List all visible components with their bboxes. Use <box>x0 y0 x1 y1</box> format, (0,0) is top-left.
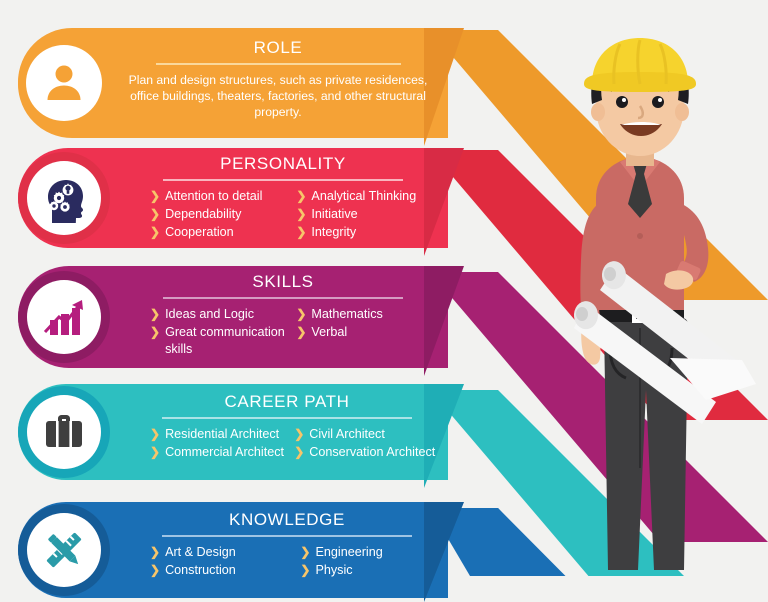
list-item[interactable]: ❯Physic <box>300 562 446 579</box>
career-list-left: ❯Residential Architect ❯Commercial Archi… <box>150 426 294 462</box>
list-item[interactable]: ❯Art & Design <box>150 544 300 561</box>
bar-chart-growth-icon <box>39 293 89 341</box>
list-item[interactable]: ❯Great communication skills <box>150 324 296 358</box>
architect-career-infographic: ROLE Plan and design structures, such as… <box>0 0 768 576</box>
chevron-right-icon: ❯ <box>150 224 160 241</box>
skills-content: SKILLS ❯Ideas and Logic ❯Great communica… <box>128 272 438 359</box>
chevron-right-icon: ❯ <box>150 188 160 205</box>
ruler-pencil-icon <box>40 526 88 574</box>
personality-content: PERSONALITY ❯Attention to detail ❯Depend… <box>128 154 438 242</box>
list-item[interactable]: ❯Cooperation <box>150 224 296 241</box>
chevron-right-icon: ❯ <box>150 426 160 443</box>
person-icon <box>41 60 87 106</box>
role-description: Plan and design structures, such as priv… <box>128 72 428 120</box>
knowledge-title: KNOWLEDGE <box>128 510 446 530</box>
briefcase-icon <box>40 410 88 454</box>
list-item[interactable]: ❯Analytical Thinking <box>296 188 438 205</box>
list-item[interactable]: ❯Construction <box>150 562 300 579</box>
chevron-right-icon: ❯ <box>150 324 160 341</box>
career-title: CAREER PATH <box>128 392 446 412</box>
section-skills[interactable]: SKILLS ❯Ideas and Logic ❯Great communica… <box>18 266 448 368</box>
list-item[interactable]: ❯Mathematics <box>296 306 438 323</box>
section-career-path[interactable]: CAREER PATH ❯Residential Architect ❯Comm… <box>18 384 448 480</box>
list-item[interactable]: ❯Residential Architect <box>150 426 294 443</box>
role-content: ROLE Plan and design structures, such as… <box>128 38 428 120</box>
chevron-right-icon: ❯ <box>150 444 160 461</box>
personality-list-right: ❯Analytical Thinking ❯Initiative ❯Integr… <box>296 188 438 242</box>
knowledge-icon-badge[interactable] <box>18 504 110 596</box>
list-item[interactable]: ❯Verbal <box>296 324 438 341</box>
career-icon-badge[interactable] <box>18 386 110 478</box>
chevron-right-icon: ❯ <box>294 426 304 443</box>
section-personality[interactable]: PERSONALITY ❯Attention to detail ❯Depend… <box>18 148 448 248</box>
architect-character <box>520 28 760 576</box>
chevron-right-icon: ❯ <box>150 544 160 561</box>
list-item[interactable]: ❯Attention to detail <box>150 188 296 205</box>
list-item[interactable]: ❯Integrity <box>296 224 438 241</box>
knowledge-title-rule <box>162 535 412 537</box>
role-icon-badge[interactable] <box>18 37 110 129</box>
list-item[interactable]: ❯Engineering <box>300 544 446 561</box>
personality-list-left: ❯Attention to detail ❯Dependability ❯Coo… <box>150 188 296 242</box>
chevron-right-icon: ❯ <box>296 188 306 205</box>
chevron-right-icon: ❯ <box>296 206 306 223</box>
skills-list-right: ❯Mathematics ❯Verbal <box>296 306 438 359</box>
chevron-right-icon: ❯ <box>296 306 306 323</box>
career-list-right: ❯Civil Architect ❯Conservation Architect <box>294 426 446 462</box>
chevron-right-icon: ❯ <box>150 206 160 223</box>
personality-title-rule <box>163 179 403 181</box>
section-knowledge[interactable]: KNOWLEDGE ❯Art & Design ❯Construction ❯E… <box>18 502 448 598</box>
chevron-right-icon: ❯ <box>296 224 306 241</box>
list-item[interactable]: ❯Ideas and Logic <box>150 306 296 323</box>
chevron-right-icon: ❯ <box>296 324 306 341</box>
career-title-rule <box>162 417 412 419</box>
chevron-right-icon: ❯ <box>300 544 310 561</box>
knowledge-lists: ❯Art & Design ❯Construction ❯Engineering… <box>128 544 446 580</box>
role-title-rule <box>156 63 401 65</box>
knowledge-list-right: ❯Engineering ❯Physic <box>300 544 446 580</box>
personality-icon-badge[interactable] <box>18 152 110 244</box>
chevron-right-icon: ❯ <box>300 562 310 579</box>
role-title: ROLE <box>128 38 428 58</box>
role-fold-shadow <box>424 28 464 146</box>
list-item[interactable]: ❯Initiative <box>296 206 438 223</box>
career-lists: ❯Residential Architect ❯Commercial Archi… <box>128 426 446 462</box>
list-item[interactable]: ❯Civil Architect <box>294 426 446 443</box>
list-item[interactable]: ❯Commercial Architect <box>150 444 294 461</box>
section-role[interactable]: ROLE Plan and design structures, such as… <box>18 28 448 138</box>
list-item[interactable]: ❯Dependability <box>150 206 296 223</box>
list-item[interactable]: ❯Conservation Architect <box>294 444 446 461</box>
skills-lists: ❯Ideas and Logic ❯Great communication sk… <box>128 306 438 359</box>
chevron-right-icon: ❯ <box>150 562 160 579</box>
personality-title: PERSONALITY <box>128 154 438 174</box>
personality-lists: ❯Attention to detail ❯Dependability ❯Coo… <box>128 188 438 242</box>
skills-title: SKILLS <box>128 272 438 292</box>
career-content: CAREER PATH ❯Residential Architect ❯Comm… <box>128 392 446 462</box>
chevron-right-icon: ❯ <box>150 306 160 323</box>
knowledge-list-left: ❯Art & Design ❯Construction <box>150 544 300 580</box>
head-gears-idea-icon <box>38 173 90 223</box>
skills-icon-badge[interactable] <box>18 271 110 363</box>
chevron-right-icon: ❯ <box>294 444 304 461</box>
skills-title-rule <box>163 297 403 299</box>
skills-list-left: ❯Ideas and Logic ❯Great communication sk… <box>150 306 296 359</box>
knowledge-content: KNOWLEDGE ❯Art & Design ❯Construction ❯E… <box>128 510 446 580</box>
